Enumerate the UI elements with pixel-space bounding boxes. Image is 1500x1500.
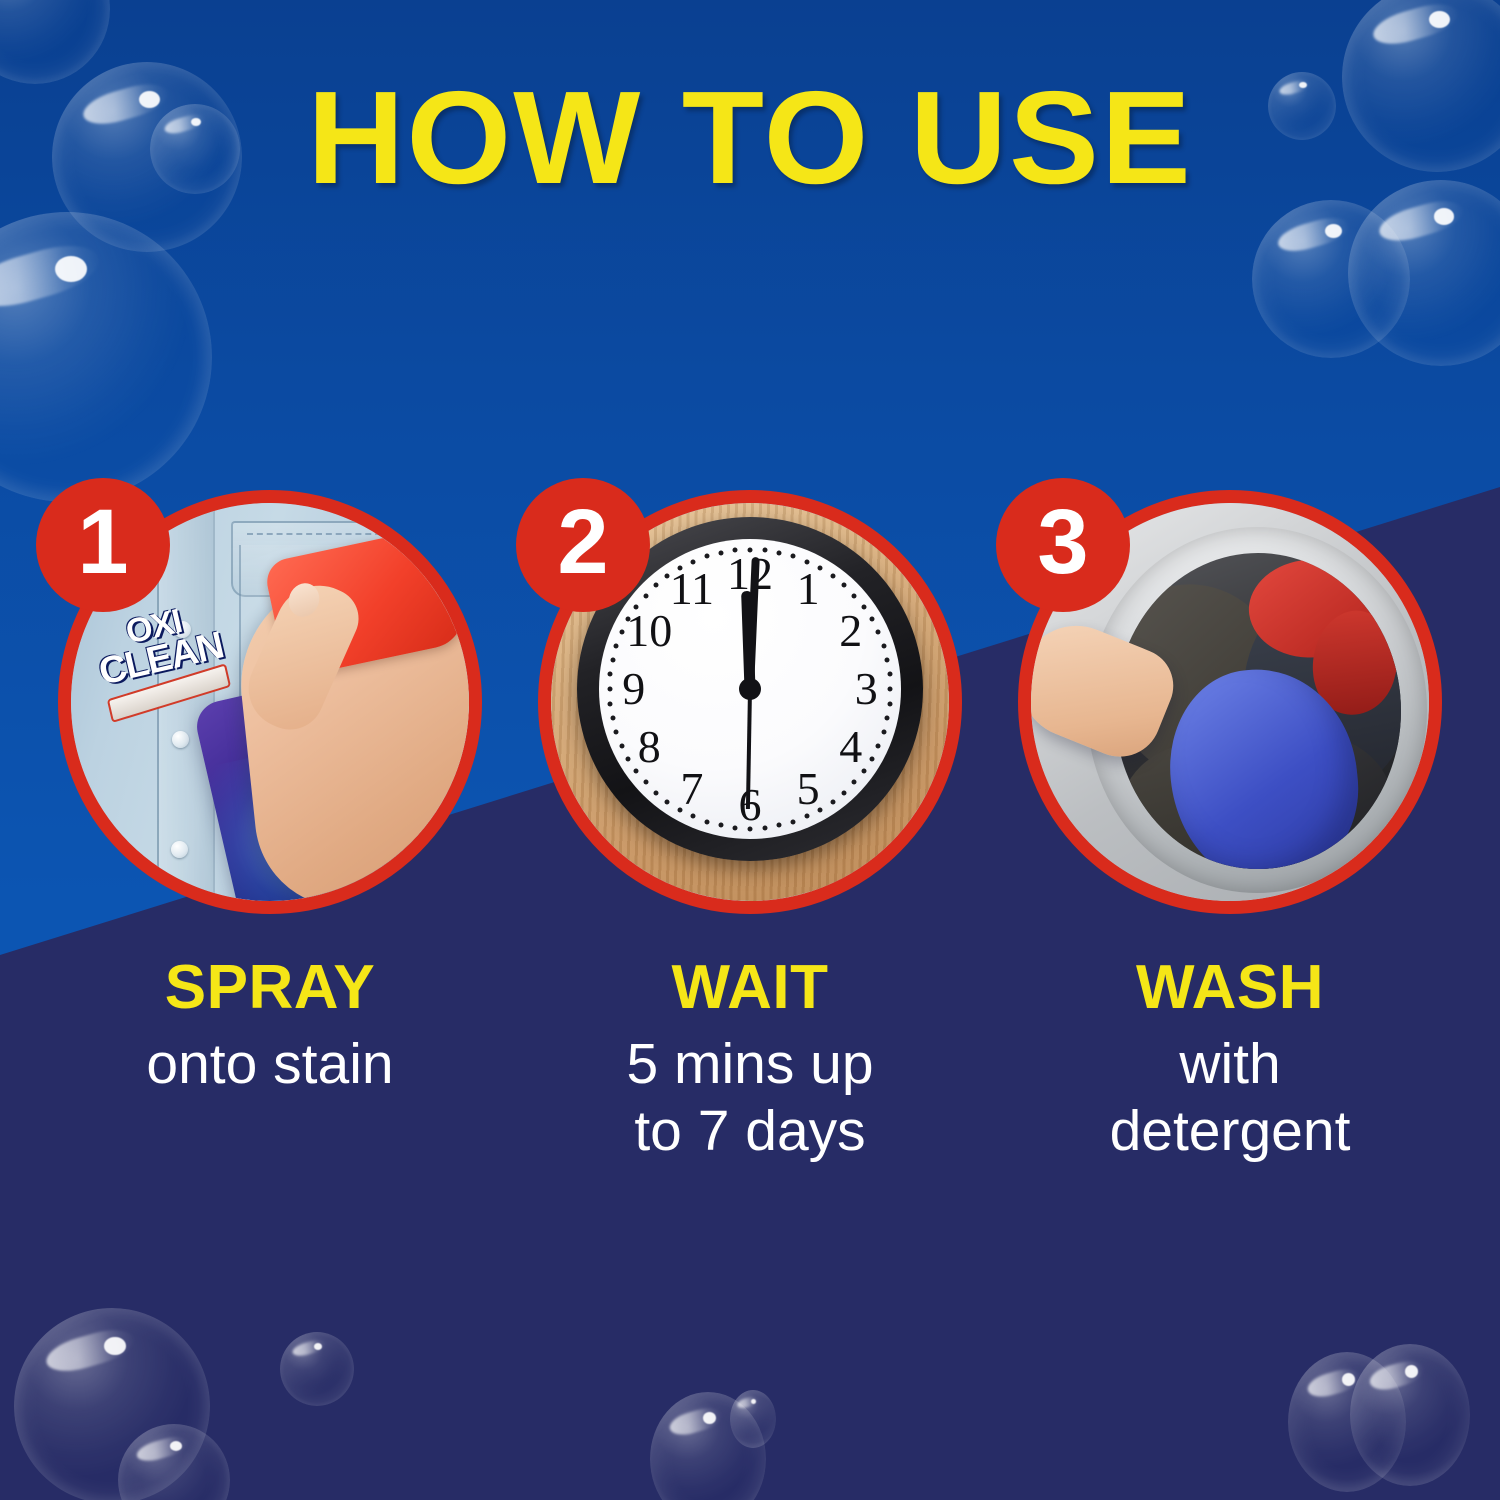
caption-3: WASH with detergent: [995, 955, 1465, 1165]
clock-tick-dot: [830, 799, 835, 804]
clock-tick-dot: [881, 730, 886, 735]
caption-subtitle-3: with detergent: [995, 1031, 1465, 1166]
page-title: HOW TO USE: [0, 72, 1500, 204]
clock-tick-dot: [607, 687, 612, 692]
clock-tick-dot: [619, 743, 624, 748]
clock-numeral-4: 4: [839, 724, 862, 770]
shirt-button: [171, 841, 188, 858]
clock-tick-dot: [887, 701, 892, 706]
clock-tick-dot: [885, 716, 890, 721]
step-card-1: OXI CLEAN: [30, 480, 510, 914]
clock-tick-dot: [841, 790, 846, 795]
caption-title-1: SPRAY: [35, 955, 505, 1021]
clock-tick-dot: [818, 566, 823, 571]
caption-1: SPRAY onto stain: [35, 955, 505, 1098]
clock-tick-dot: [881, 643, 886, 648]
clock-tick-dot: [643, 593, 648, 598]
clock-tick-dot: [704, 819, 709, 824]
clock-numeral-2: 2: [839, 608, 862, 654]
clock-tick-dot: [748, 826, 753, 831]
clock-center-pin: [739, 678, 761, 700]
clock-tick-dot: [718, 550, 723, 555]
clock-tick-dot: [876, 743, 881, 748]
clock-tick-dot: [777, 550, 782, 555]
clock-tick-dot: [841, 583, 846, 588]
caption-title-2: WAIT: [515, 955, 985, 1021]
clock-numeral-9: 9: [622, 666, 645, 712]
clock-tick-dot: [626, 617, 631, 622]
clock-numeral-7: 7: [680, 766, 703, 812]
clock-numeral-3: 3: [855, 666, 878, 712]
clock-tick-dot: [634, 768, 639, 773]
clock-tick-dot: [762, 548, 767, 553]
clock-tick-dot: [634, 605, 639, 610]
clock-tick-dot: [619, 630, 624, 635]
step-badge-2: 2: [516, 478, 650, 612]
clock-numeral-11: 11: [670, 566, 714, 612]
step-badge-3: 3: [996, 478, 1130, 612]
clock-tick-dot: [654, 583, 659, 588]
caption-title-3: WASH: [995, 955, 1465, 1021]
step-card-2: 121234567891011 2: [510, 480, 990, 914]
clock-tick-dot: [777, 823, 782, 828]
clock-tick-dot: [608, 701, 613, 706]
step-number-1: 1: [77, 496, 128, 588]
clock-tick-dot: [748, 547, 753, 552]
clock-tick-dot: [876, 630, 881, 635]
step-card-3: 3: [990, 480, 1470, 914]
clock-tick-dot: [791, 554, 796, 559]
clock-tick-dot: [665, 574, 670, 579]
clock-tick-dot: [861, 605, 866, 610]
shirt-button: [172, 731, 189, 748]
clock-tick-dot: [690, 814, 695, 819]
clock-numeral-10: 10: [626, 608, 672, 654]
shirt-pocket-stitch: [247, 533, 391, 535]
caption-2: WAIT 5 mins up to 7 days: [515, 955, 985, 1165]
clock-tick-dot: [887, 672, 892, 677]
clock-tick-dot: [791, 819, 796, 824]
step-badge-1: 1: [36, 478, 170, 612]
clock-tick-dot: [830, 574, 835, 579]
clock-tick-dot: [869, 756, 874, 761]
clock-tick-dot: [762, 825, 767, 830]
clock-tick-dot: [805, 559, 810, 564]
clock-tick-dot: [626, 756, 631, 761]
clock-tick-dot: [852, 780, 857, 785]
clock-tick-dot: [677, 807, 682, 812]
clock-numeral-1: 1: [797, 566, 820, 612]
caption-subtitle-2: 5 mins up to 7 days: [515, 1031, 985, 1166]
step-number-3: 3: [1037, 496, 1088, 588]
clock-tick-dot: [643, 780, 648, 785]
step-2-photo-wrap: 121234567891011 2: [538, 490, 962, 914]
clock-tick-dot: [654, 790, 659, 795]
clock-tick-dot: [610, 657, 615, 662]
clock-tick-dot: [704, 554, 709, 559]
caption-subtitle-1: onto stain: [35, 1031, 505, 1098]
clock-tick-dot: [852, 593, 857, 598]
clock-tick-dot: [718, 823, 723, 828]
clock-tick-dot: [614, 643, 619, 648]
clock-tick-dot: [608, 672, 613, 677]
clock-tick-dot: [610, 716, 615, 721]
clock-tick-dot: [888, 687, 893, 692]
clock-tick-dot: [614, 730, 619, 735]
clock-face: 121234567891011: [599, 539, 901, 839]
step-1-photo-wrap: OXI CLEAN: [58, 490, 482, 914]
clock-tick-dot: [869, 617, 874, 622]
clock-tick-dot: [818, 807, 823, 812]
clock-tick-dot: [861, 768, 866, 773]
clock-tick-dot: [805, 814, 810, 819]
infographic-canvas: HOW TO USE: [0, 0, 1500, 1500]
clock-tick-dot: [733, 825, 738, 830]
clock-numeral-5: 5: [797, 766, 820, 812]
clock-numeral-8: 8: [638, 724, 661, 770]
step-number-2: 2: [557, 496, 608, 588]
step-3-photo-wrap: 3: [1018, 490, 1442, 914]
clock-tick-dot: [885, 657, 890, 662]
clock-tick-dot: [665, 799, 670, 804]
clock-tick-dot: [677, 566, 682, 571]
clock-tick-dot: [733, 548, 738, 553]
clock-tick-dot: [690, 559, 695, 564]
